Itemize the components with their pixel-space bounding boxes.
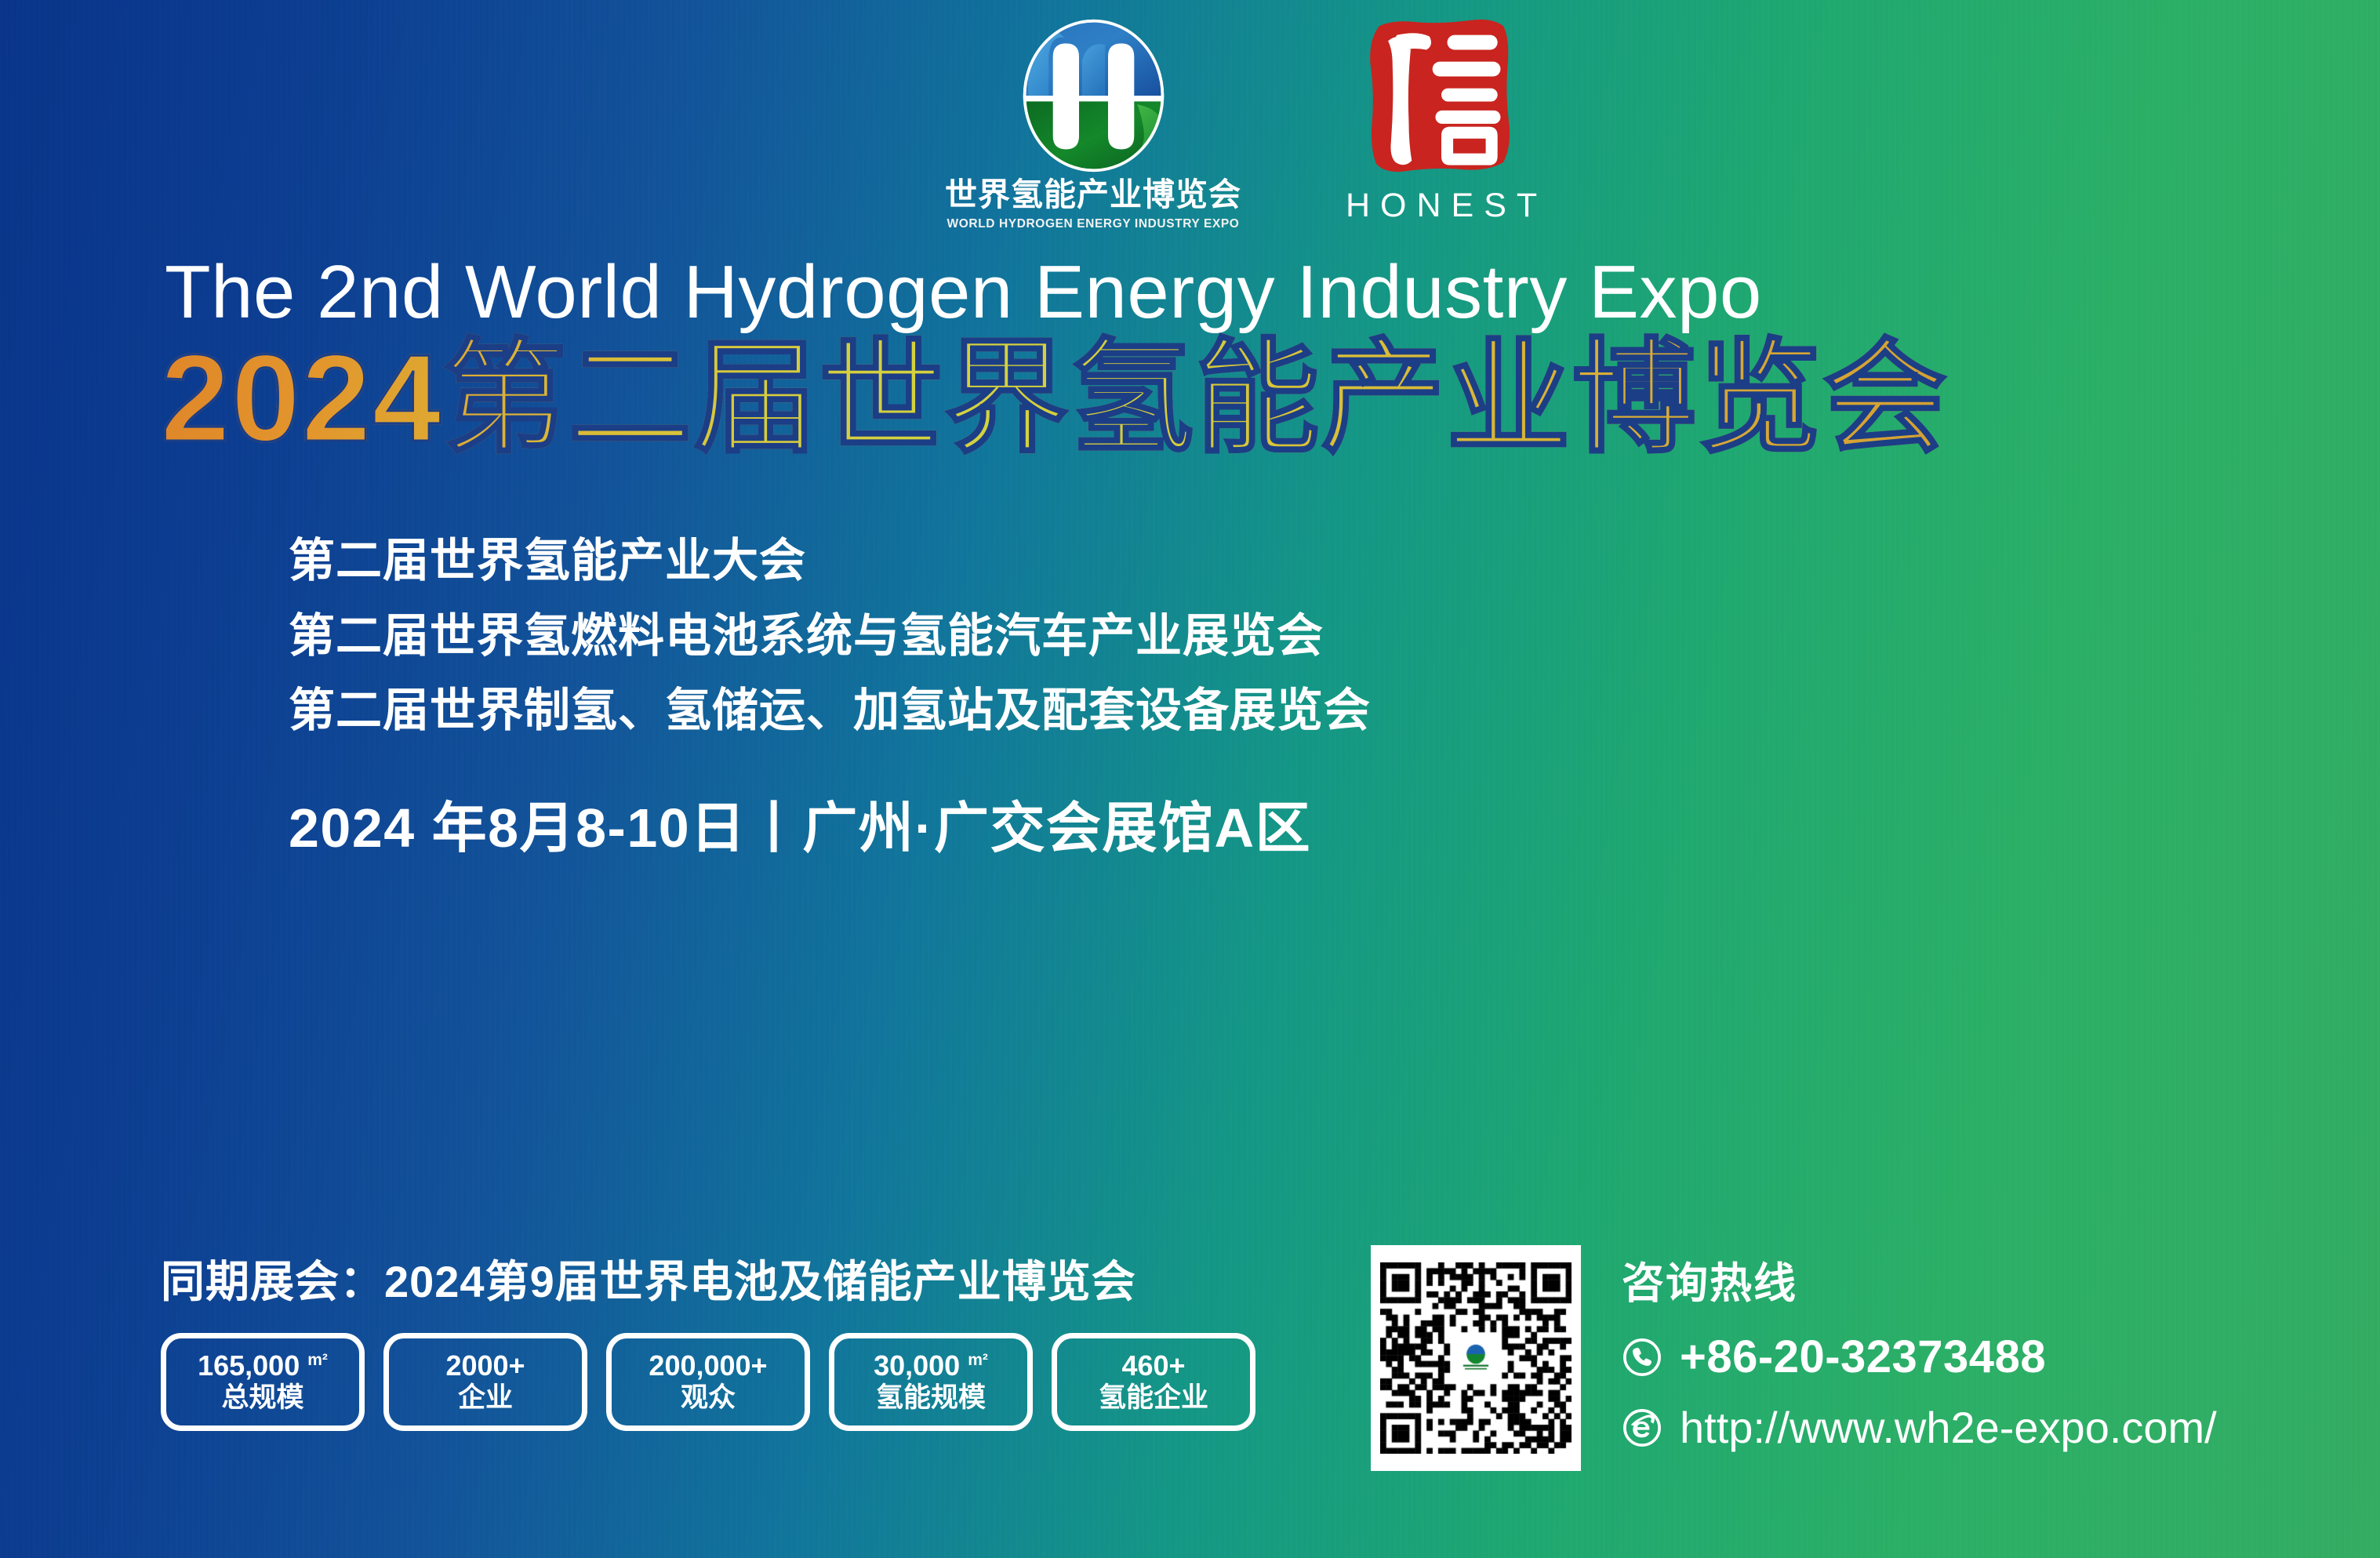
stat-badge: 30,000 m² 氢能规模 xyxy=(829,1333,1033,1431)
stat-badge-value: 165,000 m² xyxy=(198,1350,328,1382)
honest-logo-en-name: HONEST xyxy=(1335,187,1547,225)
honest-seal-icon xyxy=(1367,17,1516,174)
headline-chinese: 2024第二届世界氢能产业博览会 xyxy=(161,329,1949,468)
stat-badge: 2000+ 企业 xyxy=(383,1333,587,1431)
stat-badge-value: 200,000+ xyxy=(649,1350,767,1382)
stat-badge-label: 企业 xyxy=(458,1383,513,1414)
contact-phone-row: +86-20-32373488 xyxy=(1622,1331,2217,1383)
contact-block: 咨询热线 +86-20-32373488 http://www.wh2e-exp… xyxy=(1371,1245,2217,1472)
logo-row: 世界氢能产业博览会 WORLD HYDROGEN ENERGY INDUSTRY… xyxy=(945,17,1547,231)
stat-badge-value: 2000+ xyxy=(445,1350,525,1382)
stat-unit: m² xyxy=(968,1351,988,1369)
stat-badge-value: 30,000 m² xyxy=(874,1350,988,1382)
date-venue: 2024 年8月8-10日丨广州·广交会展馆A区 xyxy=(289,784,1311,863)
concurrent-expo-text: 同期展会：2024第9届世界电池及储能产业博览会 xyxy=(161,1247,1136,1310)
subtitle-list: 第二届世界氢能产业大会 第二届世界氢燃料电池系统与氢能汽车产业展览会 第二届世界… xyxy=(289,524,1371,749)
stat-badge: 165,000 m² 总规模 xyxy=(161,1333,365,1431)
honest-logo-block: HONEST xyxy=(1335,17,1547,225)
qr-code[interactable] xyxy=(1371,1245,1581,1471)
stat-badge-label: 观众 xyxy=(681,1383,736,1414)
stat-badge: 200,000+ 观众 xyxy=(606,1333,810,1431)
stat-badge-value: 460+ xyxy=(1121,1350,1185,1382)
expo-logo-en-name: WORLD HYDROGEN ENERGY INDUSTRY EXPO xyxy=(947,217,1240,231)
expo-poster: 世界氢能产业博览会 WORLD HYDROGEN ENERGY INDUSTRY… xyxy=(0,0,2380,1558)
contact-hotline-title: 咨询热线 xyxy=(1622,1248,2217,1310)
stat-badge-list: 165,000 m² 总规模 2000+ 企业 200,000+ 观众 30,0… xyxy=(161,1333,1255,1431)
browser-e-icon xyxy=(1622,1407,1662,1448)
world-hydrogen-energy-expo-logo-icon xyxy=(1021,17,1166,174)
stat-badge-label: 氢能规模 xyxy=(876,1383,986,1414)
contact-phone-number[interactable]: +86-20-32373488 xyxy=(1680,1331,2046,1383)
phone-icon xyxy=(1622,1337,1662,1378)
subtitle-line: 第二届世界制氢、氢储运、加氢站及配套设备展览会 xyxy=(289,674,1371,749)
stat-badge-label: 总规模 xyxy=(221,1383,303,1414)
contact-text-block: 咨询热线 +86-20-32373488 http://www.wh2e-exp… xyxy=(1622,1245,2217,1472)
expo-logo-block: 世界氢能产业博览会 WORLD HYDROGEN ENERGY INDUSTRY… xyxy=(945,17,1241,231)
contact-website-url[interactable]: http://www.wh2e-expo.com/ xyxy=(1680,1402,2217,1453)
contact-url-row: http://www.wh2e-expo.com/ xyxy=(1622,1402,2217,1453)
stat-badge-label: 氢能企业 xyxy=(1099,1383,1208,1414)
expo-logo-cn-name: 世界氢能产业博览会 xyxy=(945,179,1241,211)
stat-unit: m² xyxy=(307,1351,328,1369)
stat-badge: 460+ 氢能企业 xyxy=(1052,1333,1255,1431)
headline-english: The 2nd World Hydrogen Energy Industry E… xyxy=(165,249,1762,336)
subtitle-line: 第二届世界氢燃料电池系统与氢能汽车产业展览会 xyxy=(289,599,1371,674)
subtitle-line: 第二届世界氢能产业大会 xyxy=(289,524,1371,599)
qr-code-canvas xyxy=(1380,1262,1572,1454)
